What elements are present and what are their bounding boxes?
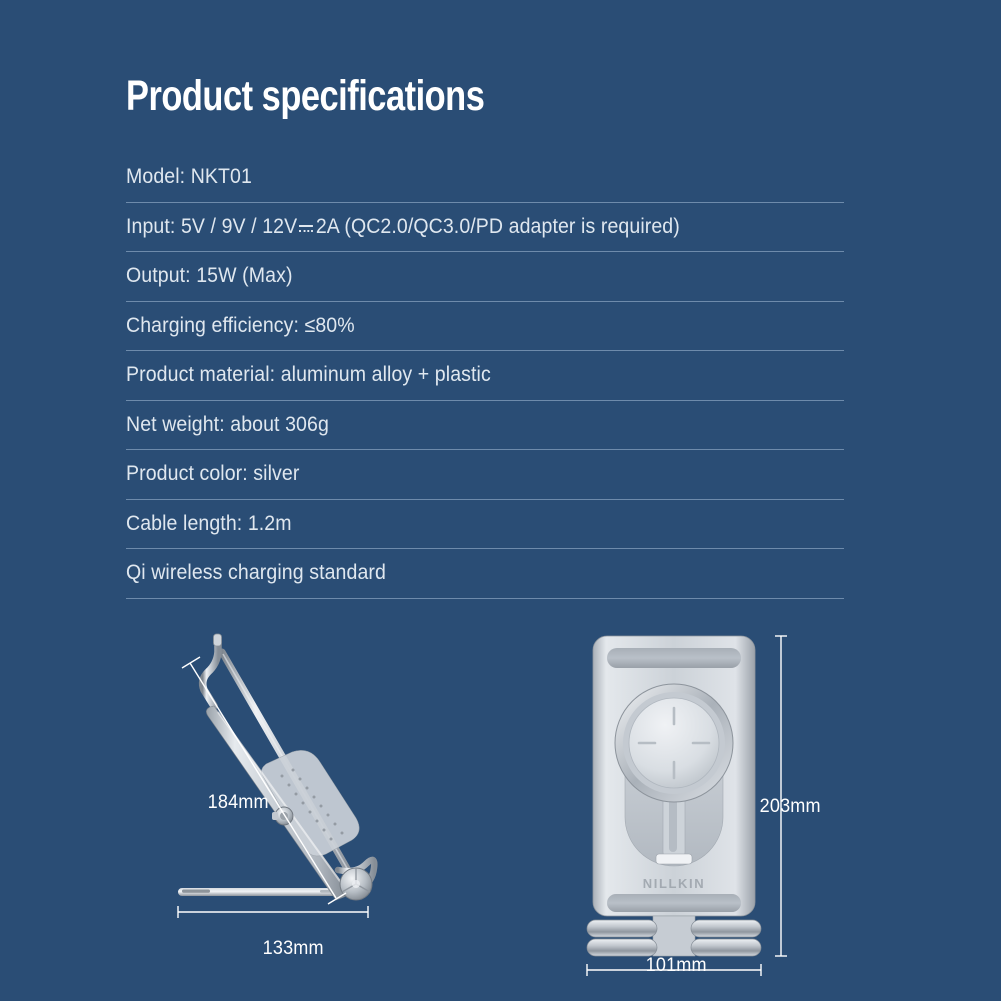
spec-row-input: Input: 5V / 9V / 12V2A (QC2.0/QC3.0/PD a…	[126, 203, 844, 253]
dimension-line-133	[178, 906, 368, 918]
spec-text-product-material: Product material: aluminum alloy + plast…	[126, 363, 491, 387]
front-view-wireless-charging-pad	[615, 684, 733, 802]
spec-row-cable-length: Cable length: 1.2m	[126, 500, 844, 550]
spec-text-charging-efficiency: Charging efficiency: ≤80%	[126, 314, 355, 338]
front-view-hinge-assembly	[587, 916, 761, 956]
spec-row-qi-standard: Qi wireless charging standard	[126, 549, 844, 599]
spec-text-qi-standard: Qi wireless charging standard	[126, 561, 386, 585]
side-view-hinge-hub	[340, 868, 372, 900]
spec-text-model: Model: NKT01	[126, 165, 252, 189]
specifications-list: Model: NKT01 Input: 5V / 9V / 12V2A (QC2…	[126, 153, 844, 599]
side-view-top-hook	[203, 634, 222, 706]
spec-row-output: Output: 15W (Max)	[126, 252, 844, 302]
front-view-bottom-grip-strip	[607, 894, 741, 912]
product-figures: NILLKIN	[0, 615, 1001, 1001]
input-label-after: 2A (QC2.0/QC3.0/PD adapter is required)	[316, 215, 680, 238]
spec-text-cable-length: Cable length: 1.2m	[126, 512, 292, 536]
front-view-top-grip-strip	[607, 648, 741, 668]
page-title: Product specifications	[126, 72, 484, 121]
spec-text-net-weight: Net weight: about 306g	[126, 413, 329, 437]
dimension-label-184mm: 184mm	[208, 792, 269, 814]
dimension-label-133mm: 133mm	[263, 938, 324, 960]
spec-row-product-material: Product material: aluminum alloy + plast…	[126, 351, 844, 401]
spec-row-charging-efficiency: Charging efficiency: ≤80%	[126, 302, 844, 352]
dimension-label-203mm: 203mm	[760, 796, 821, 818]
spec-text-input: Input: 5V / 9V / 12V2A (QC2.0/QC3.0/PD a…	[126, 215, 680, 239]
spec-text-output: Output: 15W (Max)	[126, 264, 293, 288]
spec-row-net-weight: Net weight: about 306g	[126, 401, 844, 451]
input-label-before: Input: 5V / 9V / 12V	[126, 215, 297, 238]
brand-logo-nillkin: NILLKIN	[643, 876, 705, 891]
spec-text-product-color: Product color: silver	[126, 462, 299, 486]
spec-row-product-color: Product color: silver	[126, 450, 844, 500]
product-image-side-view	[160, 630, 430, 980]
dc-symbol-icon	[299, 220, 313, 234]
spec-row-model: Model: NKT01	[126, 153, 844, 203]
dimension-label-101mm: 101mm	[646, 955, 707, 977]
